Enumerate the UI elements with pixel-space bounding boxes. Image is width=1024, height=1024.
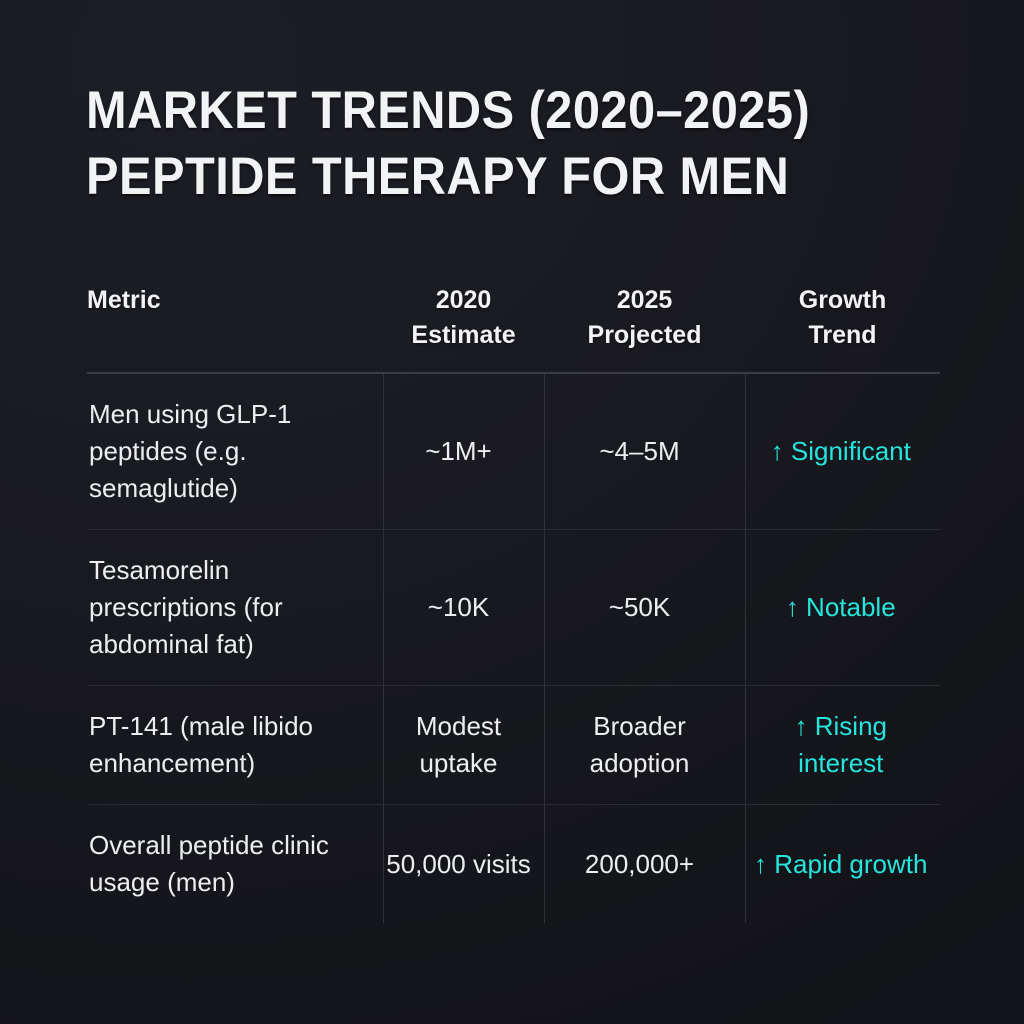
column-header-2025-line1: 2025 (544, 283, 745, 318)
cell-2025-projected: 200,000+ (544, 805, 745, 924)
table-header: Metric 2020 Estimate 2025 Projected Grow… (87, 283, 940, 373)
market-trends-table: Metric 2020 Estimate 2025 Projected Grow… (87, 283, 940, 923)
column-header-2020-line1: 2020 (383, 283, 544, 318)
market-trends-table-wrapper: Metric 2020 Estimate 2025 Projected Grow… (87, 283, 940, 923)
page-title-line-1: MARKET TRENDS (2020–2025) (86, 78, 896, 144)
cell-2020-estimate: 50,000 visits (383, 805, 544, 924)
column-header-2020-line2: Estimate (383, 318, 544, 353)
table-header-row: Metric 2020 Estimate 2025 Projected Grow… (87, 283, 940, 373)
poster-canvas: MARKET TRENDS (2020–2025) PEPTIDE THERAP… (0, 0, 1024, 1024)
growth-trend-label: Rising interest (798, 711, 887, 778)
column-header-metric: Metric (87, 283, 383, 373)
growth-trend-label: Rapid growth (774, 849, 927, 879)
table-row: PT-141 (male libido enhancement) Modest … (87, 686, 940, 805)
cell-metric: Overall peptide clinic usage (men) (87, 805, 383, 924)
table-row: Men using GLP-1 peptides (e.g. semagluti… (87, 373, 940, 530)
table-row: Overall peptide clinic usage (men) 50,00… (87, 805, 940, 924)
arrow-up-icon: ↑ (786, 592, 799, 622)
cell-2025-projected: ~50K (544, 530, 745, 686)
column-header-2025-line2: Projected (544, 318, 745, 353)
cell-growth-trend: ↑ Significant (745, 373, 940, 530)
cell-growth-trend: ↑ Rising interest (745, 686, 940, 805)
arrow-up-icon: ↑ (771, 436, 784, 466)
column-header-growth-line1: Growth (745, 283, 940, 318)
growth-trend-label: Significant (791, 436, 911, 466)
table-row: Tesamorelin prescriptions (for abdominal… (87, 530, 940, 686)
page-title-line-2: PEPTIDE THERAPY FOR MEN (86, 144, 896, 210)
column-header-2025-projected: 2025 Projected (544, 283, 745, 373)
cell-2020-estimate: ~10K (383, 530, 544, 686)
cell-growth-trend: ↑ Notable (745, 530, 940, 686)
table-body: Men using GLP-1 peptides (e.g. semagluti… (87, 373, 940, 923)
column-header-growth-line2: Trend (745, 318, 940, 353)
cell-2025-projected: ~4–5M (544, 373, 745, 530)
cell-2025-projected: Broader adoption (544, 686, 745, 805)
growth-trend-label: Notable (806, 592, 896, 622)
arrow-up-icon: ↑ (795, 711, 808, 741)
cell-growth-trend: ↑ Rapid growth (745, 805, 940, 924)
cell-metric: Tesamorelin prescriptions (for abdominal… (87, 530, 383, 686)
column-header-2020-estimate: 2020 Estimate (383, 283, 544, 373)
cell-2020-estimate: Modest uptake (383, 686, 544, 805)
column-header-growth-trend: Growth Trend (745, 283, 940, 373)
cell-metric: PT-141 (male libido enhancement) (87, 686, 383, 805)
cell-2020-estimate: ~1M+ (383, 373, 544, 530)
arrow-up-icon: ↑ (754, 849, 767, 879)
title-block: MARKET TRENDS (2020–2025) PEPTIDE THERAP… (86, 78, 966, 210)
cell-metric: Men using GLP-1 peptides (e.g. semagluti… (87, 373, 383, 530)
